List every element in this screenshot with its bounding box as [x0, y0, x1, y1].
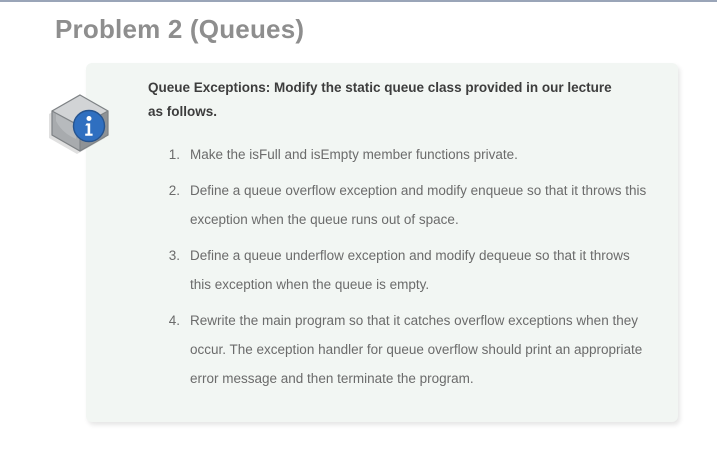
list-item-text: Make the isFull and isEmpty member funct…: [190, 147, 518, 162]
list-item: 4. Rewrite the main program so that it c…: [148, 306, 648, 393]
list-item-number: 4.: [148, 306, 180, 335]
top-divider: [0, 0, 717, 2]
list-item-text: Define a queue overflow exception and mo…: [190, 183, 646, 227]
callout-heading: Queue Exceptions: Modify the static queu…: [148, 76, 628, 124]
callout-content: Queue Exceptions: Modify the static queu…: [148, 76, 648, 400]
list-item: 1. Make the isFull and isEmpty member fu…: [148, 140, 648, 169]
instruction-list: 1. Make the isFull and isEmpty member fu…: [148, 140, 648, 393]
list-item: 3. Define a queue underflow exception an…: [148, 241, 648, 299]
list-item: 2. Define a queue overflow exception and…: [148, 176, 648, 234]
list-item-text: Rewrite the main program so that it catc…: [190, 313, 642, 386]
list-item-number: 3.: [148, 241, 180, 270]
page-title: Problem 2 (Queues): [55, 14, 304, 45]
list-item-number: 1.: [148, 140, 180, 169]
info-cube-icon: [46, 89, 116, 155]
list-item-number: 2.: [148, 176, 180, 205]
list-item-text: Define a queue underflow exception and m…: [190, 248, 630, 292]
